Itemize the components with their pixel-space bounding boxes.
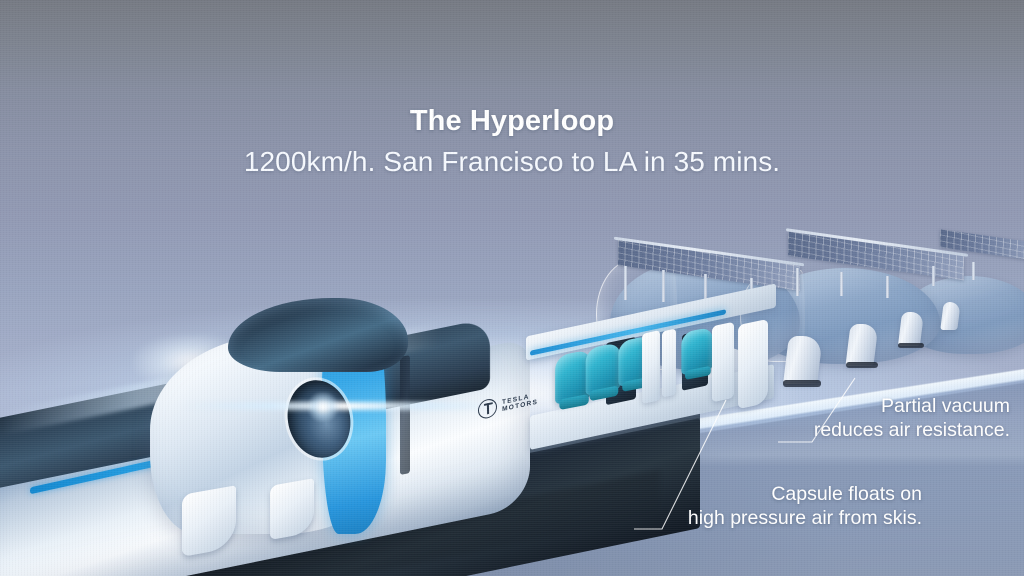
annotation-line-2: reduces air resistance. xyxy=(814,418,1010,442)
annotation-capsule-floats: Capsule floats on high pressure air from… xyxy=(688,482,922,530)
annotation-partial-vacuum: Partial vacuum reduces air resistance. xyxy=(814,394,1010,442)
tesla-t-logo-icon xyxy=(478,397,497,420)
annotation-line-1: Capsule floats on xyxy=(688,482,922,506)
annotation-line-1: Partial vacuum xyxy=(814,394,1010,418)
annotation-line-2: high pressure air from skis. xyxy=(688,506,922,530)
illustration-canvas: The Hyperloop 1200km/h. San Francisco to… xyxy=(0,0,1024,576)
